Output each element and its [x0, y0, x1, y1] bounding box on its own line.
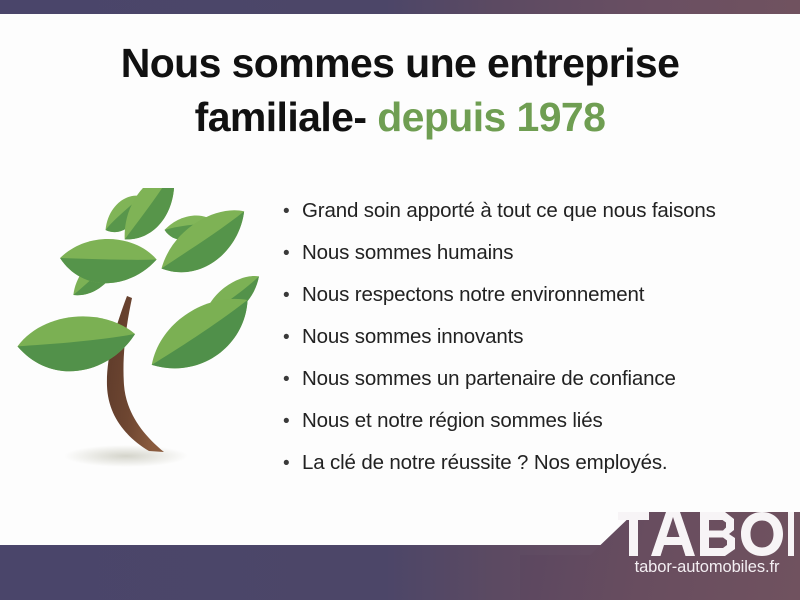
- list-item-label: Nous respectons notre environnement: [302, 274, 644, 316]
- tree-trunk: [107, 296, 164, 452]
- list-item: • Nous et notre région sommes liés: [283, 400, 773, 442]
- tree-shadow-ellipse: [64, 445, 188, 467]
- list-item-label: Grand soin apporté à tout ce que nous fa…: [302, 190, 716, 232]
- list-item: • Grand soin apporté à tout ce que nous …: [283, 190, 773, 232]
- headline-accent-part: depuis 1978: [377, 94, 605, 140]
- logo-url-label: tabor-automobiles.fr: [618, 558, 796, 577]
- headline-plain-part: familiale: [195, 94, 354, 140]
- list-item-label: La clé de notre réussite ? Nos employés.: [302, 442, 667, 484]
- bullet-dot-icon: •: [283, 191, 302, 233]
- list-item: • La clé de notre réussite ? Nos employé…: [283, 442, 773, 484]
- bullet-dot-icon: •: [283, 233, 302, 275]
- list-item-label: Nous sommes humains: [302, 232, 513, 274]
- value-bullet-list: • Grand soin apporté à tout ce que nous …: [283, 190, 773, 484]
- list-item-label: Nous sommes innovants: [302, 316, 523, 358]
- headline-dash: -: [353, 94, 377, 140]
- headline-line-1: Nous sommes une entreprise: [40, 36, 760, 90]
- bullet-dot-icon: •: [283, 275, 302, 317]
- slide-canvas: Nous sommes une entreprise familiale- de…: [0, 0, 800, 600]
- tree-leaf: [140, 293, 261, 377]
- list-item: • Nous sommes innovants: [283, 316, 773, 358]
- bullet-dot-icon: •: [283, 401, 302, 443]
- list-item-label: Nous et notre région sommes liés: [302, 400, 603, 442]
- tabor-wordmark-logo: [618, 512, 794, 556]
- headline-line-2: familiale- depuis 1978: [40, 90, 760, 144]
- list-item: • Nous sommes un partenaire de confiance: [283, 358, 773, 400]
- list-item: • Nous sommes humains: [283, 232, 773, 274]
- bullet-dot-icon: •: [283, 443, 302, 485]
- bullet-dot-icon: •: [283, 359, 302, 401]
- list-item-label: Nous sommes un partenaire de confiance: [302, 358, 676, 400]
- list-item: • Nous respectons notre environnement: [283, 274, 773, 316]
- page-title: Nous sommes une entreprise familiale- de…: [40, 36, 760, 144]
- top-accent-bar: [0, 0, 800, 14]
- green-tree-illustration: [14, 188, 270, 488]
- bullet-dot-icon: •: [283, 317, 302, 359]
